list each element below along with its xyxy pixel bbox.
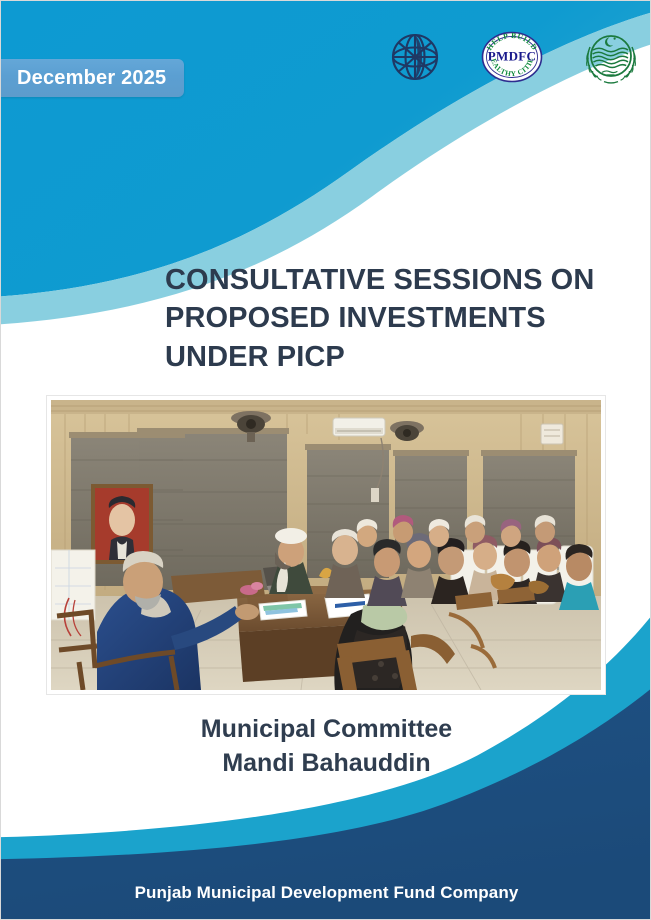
world-bank-logo xyxy=(386,28,444,86)
cover-photo-frame xyxy=(47,396,605,694)
punjab-government-logo xyxy=(580,27,642,87)
date-badge: December 2025 xyxy=(1,59,184,97)
subtitle-line-1: Municipal Committee xyxy=(1,713,651,747)
logo-row: HELP BUILD HEALTHY CITIES PMDFC xyxy=(386,27,642,87)
page-title-line-2: PROPOSED INVESTMENTS xyxy=(165,299,635,337)
pmdfc-logo: HELP BUILD HEALTHY CITIES PMDFC xyxy=(480,30,544,84)
page-title-line-1: CONSULTATIVE SESSIONS ON xyxy=(165,261,635,299)
page-title-line-3: UNDER PICP xyxy=(165,338,635,376)
consultative-session-photo xyxy=(51,400,601,690)
globe-icon xyxy=(393,35,437,79)
punjab-crest-icon xyxy=(587,36,636,83)
pmdfc-center-text: PMDFC xyxy=(488,49,536,64)
subtitle-line-2: Mandi Bahauddin xyxy=(1,747,651,781)
footer-label: Punjab Municipal Development Fund Compan… xyxy=(135,883,519,902)
footer-organisation-name: Punjab Municipal Development Fund Compan… xyxy=(1,883,651,903)
subtitle-block: Municipal Committee Mandi Bahauddin xyxy=(1,713,651,781)
report-cover-page: December 2025 xyxy=(0,0,651,920)
page-title: CONSULTATIVE SESSIONS ON PROPOSED INVEST… xyxy=(165,261,635,376)
date-badge-label: December 2025 xyxy=(17,67,166,90)
air-conditioner xyxy=(333,418,385,436)
